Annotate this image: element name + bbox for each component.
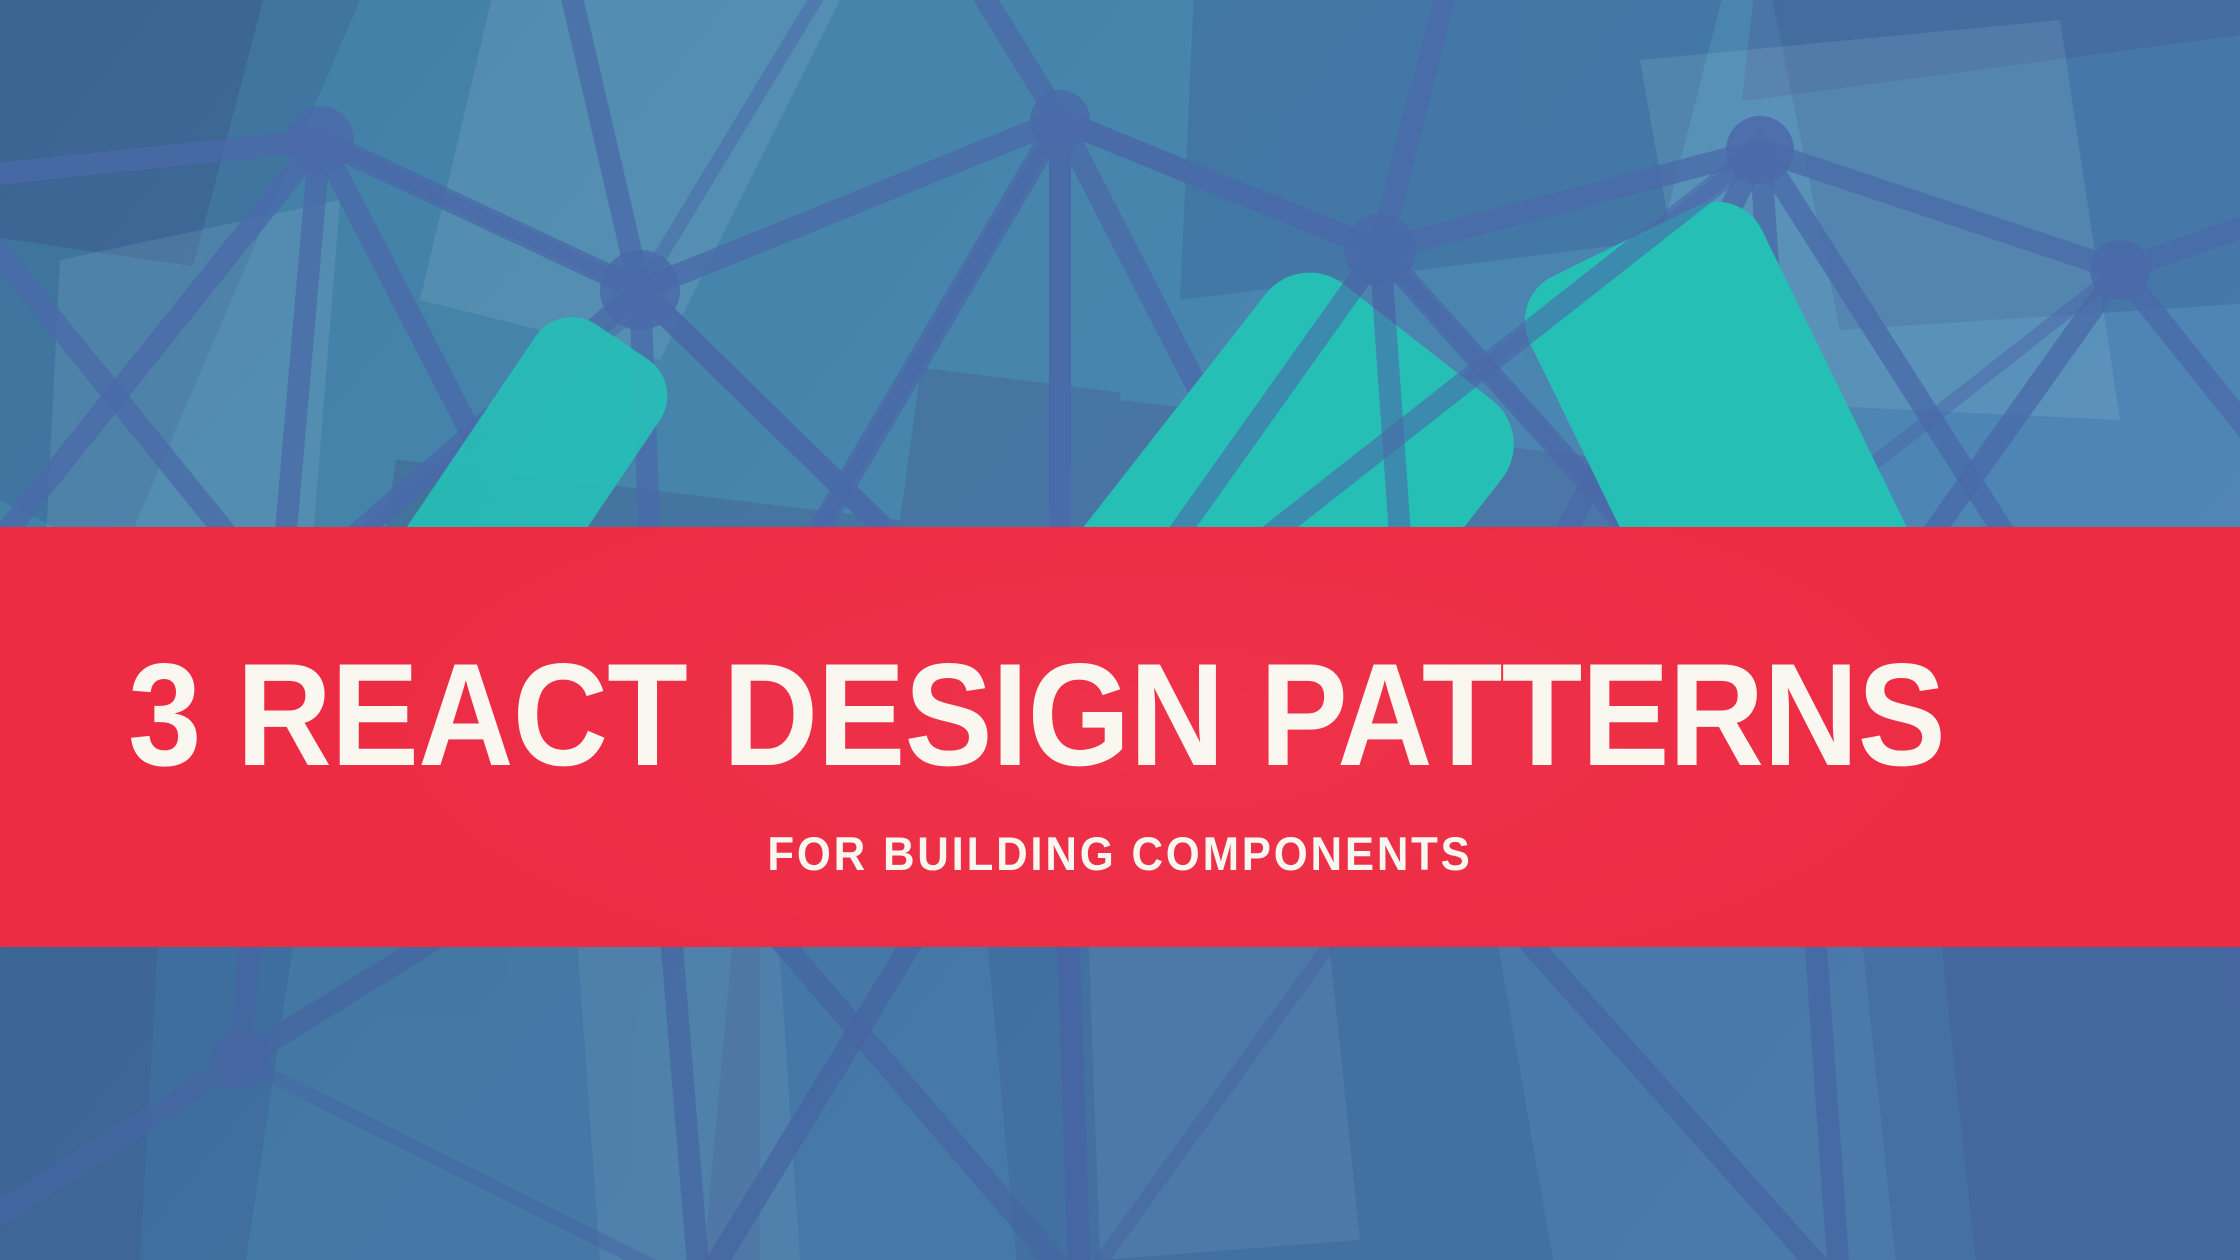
upper-dim-overlay <box>0 0 2240 527</box>
lower-dim-overlay <box>0 947 2240 1260</box>
band-sheen <box>0 527 2240 947</box>
banner-canvas: 3 REACT DESIGN PATTERNS FOR BUILDING COM… <box>0 0 2240 1260</box>
red-headline-band <box>0 527 2240 947</box>
